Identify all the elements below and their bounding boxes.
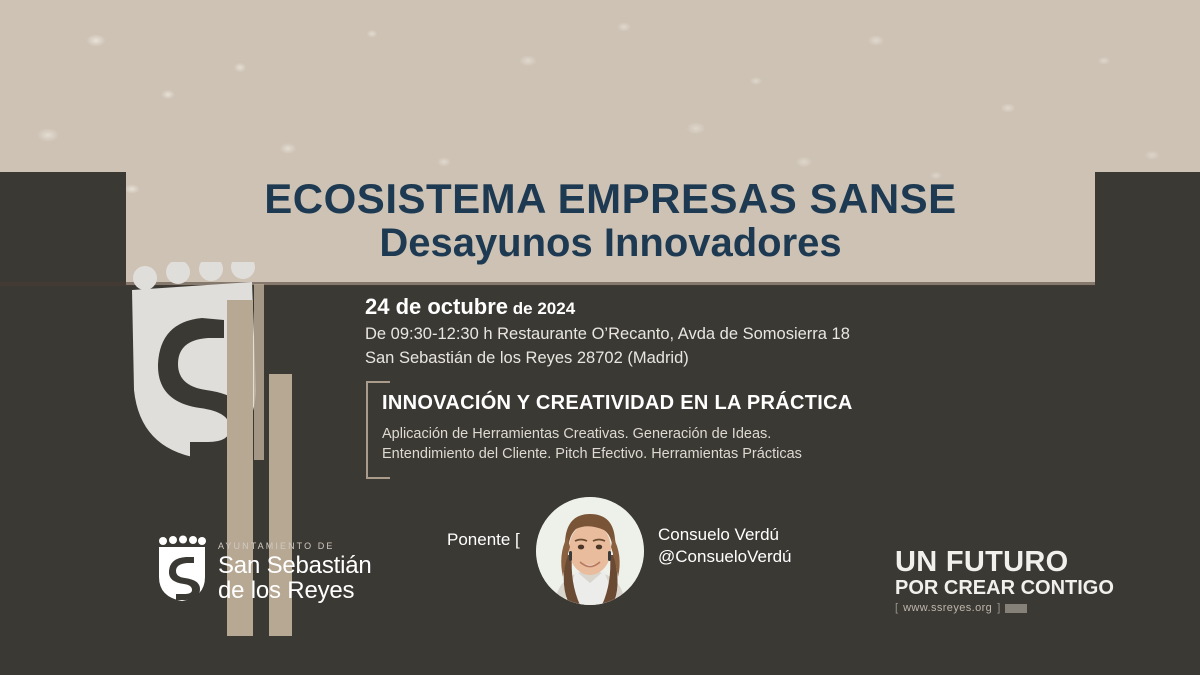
council-shield-icon	[156, 535, 208, 603]
council-name-line-1: San Sebastián	[218, 553, 372, 578]
event-info-block: 24 de octubre de 2024 De 09:30-12:30 h R…	[365, 294, 985, 368]
futuro-url-row: [ www.ssreyes.org ]	[895, 602, 1070, 614]
futuro-line-2: POR CREAR CONTIGO	[895, 578, 1070, 598]
council-name-line-2: de los Reyes	[218, 578, 372, 603]
dark-panel-left	[0, 172, 126, 287]
event-date-strong: 24 de octubre	[365, 294, 508, 319]
speaker-names: Consuelo Verdú @ConsueloVerdú	[658, 524, 792, 568]
futuro-website-url: www.ssreyes.org	[903, 602, 992, 614]
event-date-line: 24 de octubre de 2024	[365, 294, 985, 320]
speaker-avatar-photo	[536, 497, 644, 605]
event-venue-line-1: De 09:30-12:30 h Restaurante O’Recanto, …	[365, 325, 985, 344]
partner-mark-icon	[1005, 604, 1027, 613]
bracket-right: ]	[997, 602, 1000, 614]
speaker-handle: @ConsueloVerdú	[658, 546, 792, 568]
title-line-2: Desayunos Innovadores	[126, 223, 1095, 263]
city-emblem-large	[126, 262, 291, 492]
council-kicker: AYUNTAMIENTO DE	[218, 541, 372, 551]
event-venue-line-2: San Sebastián de los Reyes 28702 (Madrid…	[365, 349, 985, 368]
title-line-1: ECOSISTEMA EMPRESAS SANSE	[126, 178, 1095, 220]
speaker-row: Ponente [	[447, 497, 867, 605]
council-text: AYUNTAMIENTO DE San Sebastián de los Rey…	[218, 541, 372, 604]
city-council-logo: AYUNTAMIENTO DE San Sebastián de los Rey…	[156, 533, 366, 621]
speaker-label: Ponente [	[447, 530, 520, 550]
speaker-name: Consuelo Verdú	[658, 524, 792, 546]
event-date-year: de 2024	[508, 299, 575, 318]
topic-subtitle-line-2: Entendimiento del Cliente. Pitch Efectiv…	[382, 446, 982, 462]
topic-block: INNOVACIÓN Y CREATIVIDAD EN LA PRÁCTICA …	[382, 392, 982, 462]
poster-title: ECOSISTEMA EMPRESAS SANSE Desayunos Inno…	[126, 178, 1095, 263]
topic-title: INNOVACIÓN Y CREATIVIDAD EN LA PRÁCTICA	[382, 392, 982, 415]
un-futuro-logo: UN FUTURO POR CREAR CONTIGO [ www.ssreye…	[895, 548, 1070, 620]
dark-panel-right	[1095, 172, 1200, 287]
topic-subtitle-line-1: Aplicación de Herramientas Creativas. Ge…	[382, 426, 982, 442]
bracket-left: [	[895, 602, 898, 614]
futuro-line-1: UN FUTURO	[895, 548, 1070, 576]
